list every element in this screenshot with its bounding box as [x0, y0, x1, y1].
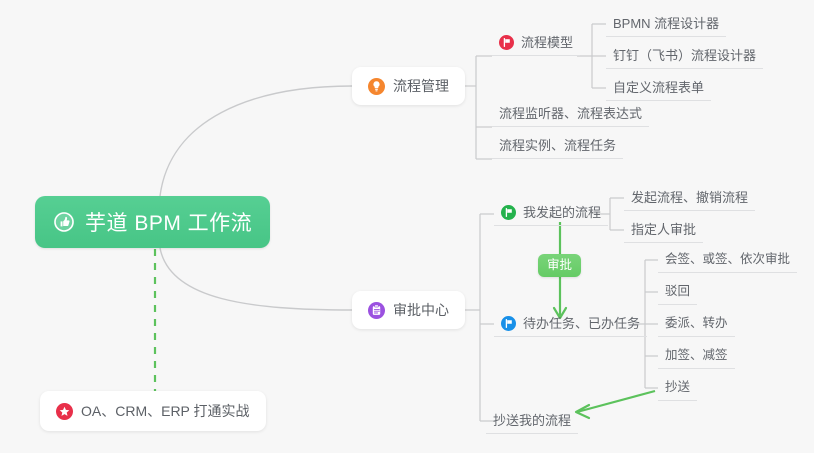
link-root-to-process-management	[160, 86, 352, 196]
root-node[interactable]: 芋道 BPM 工作流	[35, 196, 270, 248]
node-process-instance-task[interactable]: 流程实例、流程任务	[492, 132, 623, 159]
node-start-cancel-process-label: 发起流程、撤销流程	[631, 191, 748, 204]
node-custom-process-form[interactable]: 自定义流程表单	[606, 74, 711, 101]
node-reject-label: 驳回	[665, 285, 690, 298]
node-carbon-copy[interactable]: 抄送	[658, 374, 697, 401]
node-process-management[interactable]: 流程管理	[352, 67, 465, 105]
node-carbon-copy-label: 抄送	[665, 381, 690, 394]
node-process-management-label: 流程管理	[393, 76, 449, 96]
node-add-remove-sign-label: 加签、减签	[665, 349, 728, 362]
link-root-to-approval-center	[160, 248, 352, 310]
node-countersign-orsign-sequential[interactable]: 会签、或签、依次审批	[658, 246, 797, 273]
node-process-instance-task-label: 流程实例、流程任务	[499, 139, 616, 152]
node-todo-done-tasks-label: 待办任务、已办任务	[523, 317, 640, 330]
node-bpmn-designer[interactable]: BPMN 流程设计器	[606, 10, 726, 37]
node-cc-to-me-processes[interactable]: 抄送我的流程	[486, 407, 578, 434]
node-dingtalk-feishu-designer-label: 钉钉（飞书）流程设计器	[613, 49, 756, 62]
node-process-listener-expression[interactable]: 流程监听器、流程表达式	[492, 100, 649, 127]
node-reject[interactable]: 驳回	[658, 278, 697, 305]
node-process-model-label: 流程模型	[521, 36, 573, 49]
node-delegate-transfer-label: 委派、转办	[665, 317, 728, 330]
node-custom-process-form-label: 自定义流程表单	[613, 81, 704, 94]
node-bpmn-designer-label: BPMN 流程设计器	[613, 17, 719, 30]
thumbs-up-icon	[53, 211, 75, 233]
node-oa-crm-erp-integration[interactable]: OA、CRM、ERP 打通实战	[40, 391, 266, 431]
node-assignee-approval-label: 指定人审批	[631, 223, 696, 236]
clipboard-icon	[368, 302, 385, 319]
node-dingtalk-feishu-designer[interactable]: 钉钉（飞书）流程设计器	[606, 42, 763, 69]
flag-icon	[501, 205, 516, 220]
node-my-started-processes-label: 我发起的流程	[523, 206, 601, 219]
flag-icon	[499, 35, 514, 50]
node-my-started-processes[interactable]: 我发起的流程	[494, 199, 608, 226]
node-assignee-approval[interactable]: 指定人审批	[624, 216, 703, 243]
node-add-remove-sign[interactable]: 加签、减签	[658, 342, 735, 369]
root-node-label: 芋道 BPM 工作流	[85, 207, 252, 237]
node-cc-to-me-processes-label: 抄送我的流程	[493, 414, 571, 427]
lightbulb-icon	[368, 78, 385, 95]
node-countersign-orsign-sequential-label: 会签、或签、依次审批	[665, 253, 790, 266]
node-process-model[interactable]: 流程模型	[492, 29, 580, 56]
node-todo-done-tasks[interactable]: 待办任务、已办任务	[494, 310, 647, 337]
star-icon	[56, 403, 73, 420]
flag-icon	[501, 316, 516, 331]
node-approval-center[interactable]: 审批中心	[352, 291, 465, 329]
node-process-listener-expression-label: 流程监听器、流程表达式	[499, 107, 642, 120]
edge-label-approval: 审批	[538, 254, 581, 277]
node-delegate-transfer[interactable]: 委派、转办	[658, 310, 735, 337]
node-start-cancel-process[interactable]: 发起流程、撤销流程	[624, 184, 755, 211]
mindmap-canvas: 芋道 BPM 工作流 流程管理 流程模型 BPMN 流程设计器 钉钉（飞书）流程	[0, 0, 814, 453]
link-cc-to-cc-mine	[577, 391, 655, 412]
node-approval-center-label: 审批中心	[393, 300, 449, 320]
node-oa-crm-erp-integration-label: OA、CRM、ERP 打通实战	[81, 401, 250, 421]
